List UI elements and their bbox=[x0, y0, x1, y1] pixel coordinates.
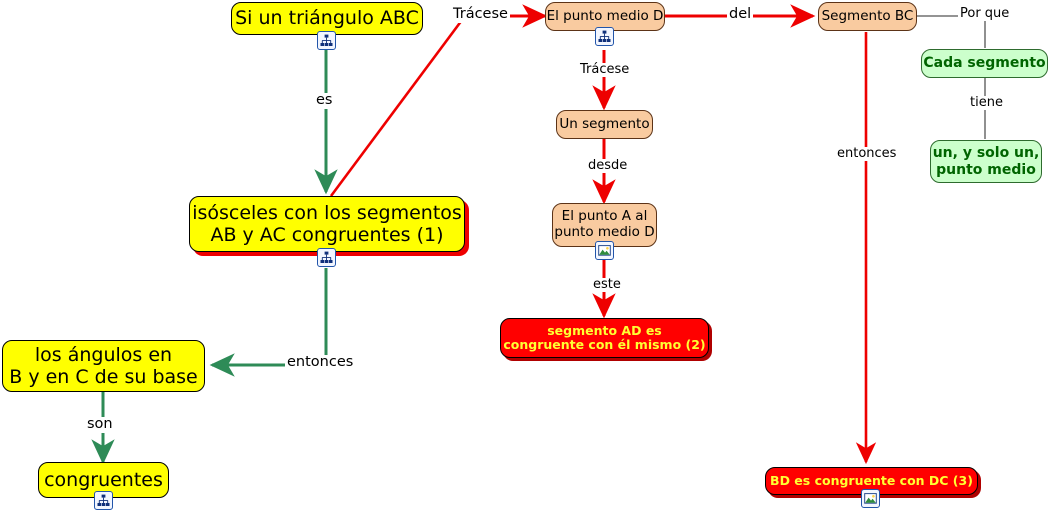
node-label-line1: isósceles con los segmentos bbox=[192, 202, 462, 224]
node-label: El punto A al punto medio D bbox=[553, 209, 656, 240]
concept-map-canvas: Si un triángulo ABC isósceles con los se… bbox=[0, 0, 1049, 511]
link-label-son: son bbox=[85, 417, 115, 433]
node-label-line2: punto medio D bbox=[554, 224, 654, 240]
image-icon[interactable] bbox=[595, 241, 614, 260]
node-label-line2: punto medio bbox=[936, 162, 1036, 178]
node-angulos-base[interactable]: los ángulos en B y en C de su base bbox=[2, 340, 205, 392]
image-icon[interactable] bbox=[861, 489, 880, 508]
node-label: BD es congruente con DC (3) bbox=[766, 474, 977, 489]
link-label-es: es bbox=[314, 93, 334, 109]
node-label: isósceles con los segmentos AB y AC cong… bbox=[190, 202, 464, 246]
node-label-line1: segmento AD es bbox=[547, 323, 662, 338]
node-label-line2: congruente con él mismo (2) bbox=[503, 337, 705, 352]
link-label-entonces-right: entonces bbox=[835, 147, 898, 161]
connector-layer bbox=[0, 0, 1049, 511]
node-segmento-ad-congruente[interactable]: segmento AD es congruente con él mismo (… bbox=[500, 318, 709, 358]
hierarchy-icon[interactable] bbox=[317, 31, 336, 50]
node-un-y-solo-un-punto-medio[interactable]: un, y solo un, punto medio bbox=[930, 140, 1042, 183]
link-label-tracese-1: Trácese bbox=[451, 7, 510, 23]
node-un-segmento[interactable]: Un segmento bbox=[556, 110, 653, 139]
node-label: Un segmento bbox=[557, 117, 652, 133]
hierarchy-icon[interactable] bbox=[317, 248, 336, 267]
link-label-tracese-2: Trácese bbox=[578, 63, 631, 77]
link-label-por-que: Por que bbox=[958, 7, 1011, 21]
link-label-este: este bbox=[591, 278, 623, 292]
link-label-del: del bbox=[727, 7, 753, 23]
node-label-line2: AB y AC congruentes (1) bbox=[210, 224, 443, 246]
node-isosceles[interactable]: isósceles con los segmentos AB y AC cong… bbox=[189, 196, 465, 252]
node-label-line1: un, y solo un, bbox=[933, 145, 1040, 161]
link-label-desde: desde bbox=[586, 159, 629, 173]
node-label-line1: El punto A al bbox=[562, 208, 648, 224]
node-label: El punto medio D bbox=[546, 9, 664, 25]
node-label: segmento AD es congruente con él mismo (… bbox=[501, 324, 708, 353]
link-label-tiene: tiene bbox=[968, 96, 1005, 110]
node-label: Cada segmento bbox=[922, 55, 1047, 71]
node-label: los ángulos en B y en C de su base bbox=[3, 344, 204, 388]
hierarchy-icon[interactable] bbox=[94, 491, 113, 510]
node-label: Si un triángulo ABC bbox=[232, 7, 422, 29]
link-label-entonces-left: entonces bbox=[285, 355, 355, 371]
node-label-line1: los ángulos en bbox=[35, 344, 172, 366]
hierarchy-icon[interactable] bbox=[595, 27, 614, 46]
link-isosceles-to-angulos bbox=[212, 268, 326, 365]
link-tracese-to-isosceles bbox=[331, 20, 462, 196]
node-segmento-bc[interactable]: Segmento BC bbox=[818, 2, 917, 31]
node-cada-segmento[interactable]: Cada segmento bbox=[921, 49, 1048, 78]
node-label: un, y solo un, punto medio bbox=[931, 145, 1041, 177]
node-label-line2: B y en C de su base bbox=[9, 366, 198, 388]
node-label: Segmento BC bbox=[819, 9, 916, 25]
node-label: congruentes bbox=[39, 469, 168, 491]
